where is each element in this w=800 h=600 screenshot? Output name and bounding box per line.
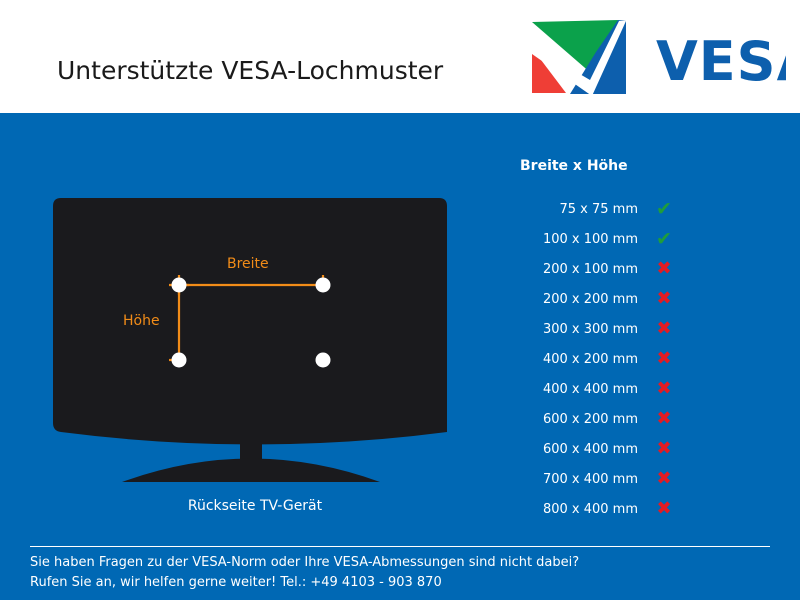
table-row: 400 x 200 mm ✖	[490, 344, 690, 374]
cross-icon: ✖	[638, 260, 690, 278]
hole-top-right	[316, 278, 331, 293]
pattern-label: 75 x 75 mm	[490, 202, 638, 217]
pattern-label: 600 x 200 mm	[490, 412, 638, 427]
page-title: Unterstützte VESA-Lochmuster	[57, 56, 443, 85]
table-row: 800 x 400 mm ✖	[490, 494, 690, 524]
tv-body	[53, 198, 447, 445]
cross-icon: ✖	[638, 320, 690, 338]
vesa-pattern-table: Breite x Höhe 75 x 75 mm ✔ 100 x 100 mm …	[490, 158, 690, 524]
pattern-label: 800 x 400 mm	[490, 502, 638, 517]
check-icon: ✔	[638, 230, 690, 249]
check-icon: ✔	[638, 200, 690, 219]
pattern-label: 200 x 200 mm	[490, 292, 638, 307]
table-row: 200 x 200 mm ✖	[490, 284, 690, 314]
pattern-label: 400 x 200 mm	[490, 352, 638, 367]
hole-top-left	[172, 278, 187, 293]
cross-icon: ✖	[638, 290, 690, 308]
table-row: 100 x 100 mm ✔	[490, 224, 690, 254]
cross-icon: ✖	[638, 440, 690, 458]
pattern-label: 400 x 400 mm	[490, 382, 638, 397]
pattern-label: 100 x 100 mm	[490, 232, 638, 247]
cross-icon: ✖	[638, 380, 690, 398]
pattern-label: 200 x 100 mm	[490, 262, 638, 277]
table-row: 300 x 300 mm ✖	[490, 314, 690, 344]
footer-line-2: Rufen Sie an, wir helfen gerne weiter! T…	[30, 573, 775, 593]
table-row: 600 x 200 mm ✖	[490, 404, 690, 434]
table-row: 400 x 400 mm ✖	[490, 374, 690, 404]
cross-icon: ✖	[638, 470, 690, 488]
hole-bottom-right	[316, 353, 331, 368]
tv-back-diagram: Breite Höhe	[40, 185, 470, 495]
vesa-info-page: Unterstützte VESA-Lochmuster VESA	[0, 0, 800, 600]
cross-icon: ✖	[638, 500, 690, 518]
table-row: 200 x 100 mm ✖	[490, 254, 690, 284]
footer-contact: Sie haben Fragen zu der VESA-Norm oder I…	[30, 553, 775, 593]
table-row: 75 x 75 mm ✔	[490, 194, 690, 224]
table-row: 700 x 400 mm ✖	[490, 464, 690, 494]
cross-icon: ✖	[638, 350, 690, 368]
table-row: 600 x 400 mm ✖	[490, 434, 690, 464]
footer-divider	[30, 546, 770, 547]
hole-bottom-left	[172, 353, 187, 368]
width-label: Breite	[227, 256, 269, 272]
logo-wordmark: VESA	[656, 30, 786, 93]
pattern-label: 300 x 300 mm	[490, 322, 638, 337]
vesa-logo: VESA	[530, 18, 786, 96]
cross-icon: ✖	[638, 410, 690, 428]
pattern-label: 600 x 400 mm	[490, 442, 638, 457]
tv-caption: Rückseite TV-Gerät	[40, 498, 470, 514]
footer-line-1: Sie haben Fragen zu der VESA-Norm oder I…	[30, 553, 775, 573]
page-header: Unterstützte VESA-Lochmuster VESA	[0, 0, 800, 113]
tv-stand-base	[122, 459, 380, 483]
pattern-label: 700 x 400 mm	[490, 472, 638, 487]
table-heading: Breite x Höhe	[490, 158, 690, 174]
height-label: Höhe	[123, 313, 160, 329]
